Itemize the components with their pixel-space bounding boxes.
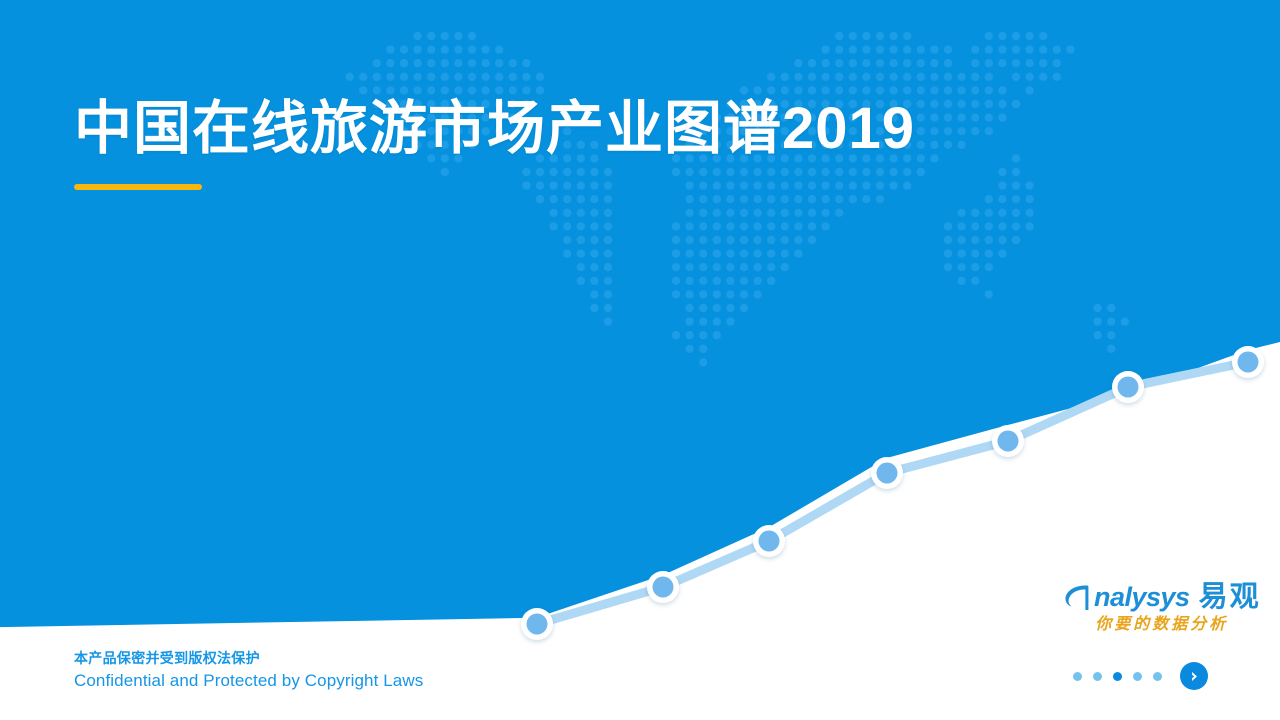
copyright-footer: 本产品保密并受到版权法保护 Confidential and Protected… bbox=[74, 648, 423, 694]
chevron-right-icon bbox=[1188, 670, 1201, 683]
title-slide: 中国在线旅游市场产业图谱2019 本产品保密并受到版权法保护 Confident… bbox=[0, 0, 1280, 720]
pagination-dot-active[interactable] bbox=[1113, 672, 1122, 681]
brand-name-cn: 易观 bbox=[1199, 583, 1261, 612]
pagination-dot[interactable] bbox=[1153, 672, 1162, 681]
brand-logo: nalysys 易观 你要的数据分析 bbox=[1063, 583, 1261, 633]
brand-logo-row: nalysys 易观 bbox=[1063, 583, 1261, 612]
pagination bbox=[1073, 662, 1208, 690]
brand-name-en: nalysys bbox=[1094, 584, 1190, 611]
next-slide-button[interactable] bbox=[1180, 662, 1208, 690]
pagination-dot[interactable] bbox=[1133, 672, 1142, 681]
copyright-chinese: 本产品保密并受到版权法保护 bbox=[74, 648, 423, 668]
copyright-english: Confidential and Protected by Copyright … bbox=[74, 668, 423, 694]
pagination-dot[interactable] bbox=[1093, 672, 1102, 681]
pagination-dot[interactable] bbox=[1073, 672, 1082, 681]
page-title: 中国在线旅游市场产业图谱2019 bbox=[74, 97, 915, 162]
analysys-swoosh-icon bbox=[1063, 584, 1089, 612]
title-accent-rule bbox=[74, 184, 202, 190]
brand-tagline: 你要的数据分析 bbox=[1063, 617, 1261, 633]
title-block: 中国在线旅游市场产业图谱2019 bbox=[74, 97, 915, 190]
